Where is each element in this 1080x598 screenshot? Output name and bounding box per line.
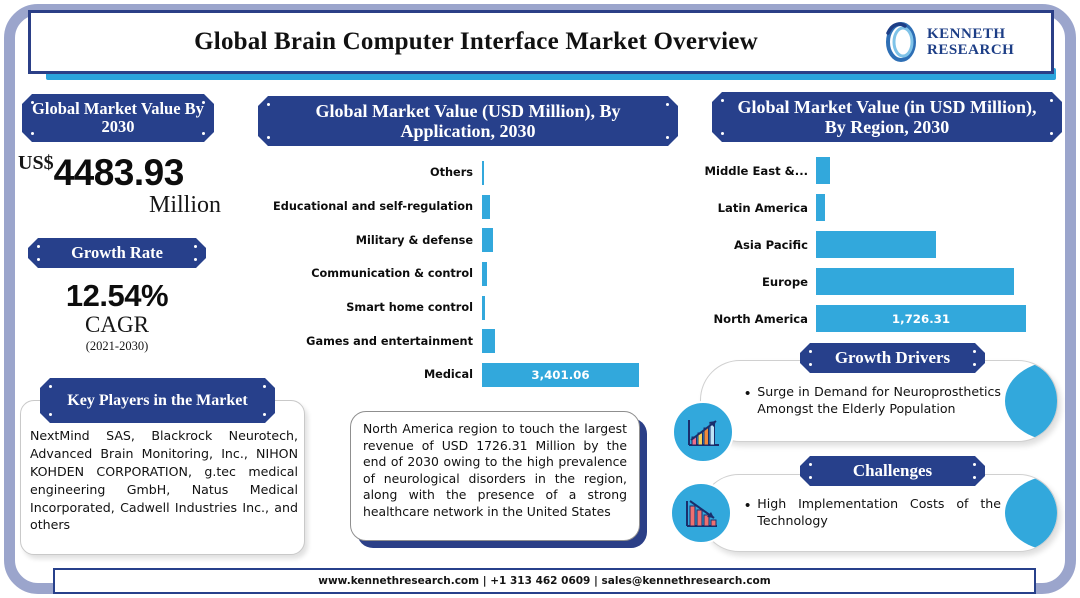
- key-players-banner: Key Players in the Market: [40, 378, 275, 423]
- ribbon-dot-icon: [973, 463, 976, 466]
- chart-bar-row: Europe: [700, 263, 1045, 300]
- chart-bar-track: 1,726.31: [816, 300, 1045, 337]
- ribbon-dot-icon: [973, 476, 976, 479]
- chart-category-label: Middle East &...: [700, 164, 816, 178]
- ribbon-dot-icon: [1050, 99, 1053, 102]
- growth-rate-banner: Growth Rate: [28, 238, 206, 268]
- ribbon-dot-icon: [37, 258, 40, 261]
- chart-category-label: Latin America: [700, 201, 816, 215]
- card-accent-shape: [1005, 361, 1057, 441]
- market-value-banner-label: Global Market Value By 2030: [22, 100, 214, 137]
- ribbon-dot-icon: [202, 132, 205, 135]
- ribbon-dot-icon: [49, 413, 52, 416]
- chart-bar-row: Military & defense: [262, 223, 662, 257]
- chart-bar-track: 3,401.06: [482, 358, 662, 392]
- application-bar-chart: OthersEducational and self-regulationMil…: [262, 156, 662, 392]
- kenneth-research-logo-icon: [881, 21, 921, 63]
- growth-rate-metric: CAGR: [22, 312, 212, 338]
- ribbon-dot-icon: [973, 350, 976, 353]
- application-chart-banner: Global Market Value (USD Million), By Ap…: [258, 96, 678, 146]
- ribbon-dot-icon: [202, 101, 205, 104]
- growth-drivers-banner-label: Growth Drivers: [835, 348, 950, 367]
- ribbon-dot-icon: [973, 363, 976, 366]
- ribbon-dot-icon: [194, 258, 197, 261]
- chart-category-label: Communication & control: [262, 267, 482, 280]
- chart-bar-track: [482, 223, 662, 257]
- growth-rate-banner-label: Growth Rate: [71, 244, 163, 262]
- market-value-currency: US$: [18, 152, 54, 174]
- ribbon-dot-icon: [809, 363, 812, 366]
- challenges-banner: Challenges: [800, 456, 985, 486]
- chart-bar-row: North America1,726.31: [700, 300, 1045, 337]
- ribbon-dot-icon: [37, 245, 40, 248]
- chart-category-label: Others: [262, 166, 482, 179]
- chart-bar-value-label: 3,401.06: [531, 368, 589, 382]
- ribbon-dot-icon: [49, 385, 52, 388]
- ribbon-dot-icon: [721, 132, 724, 135]
- chart-category-label: Medical: [262, 368, 482, 381]
- chart-bar-row: Educational and self-regulation: [262, 190, 662, 224]
- chart-bar-track: [816, 226, 1045, 263]
- growth-rate-period: (2021-2030): [22, 339, 212, 354]
- growth-rate-figure: 12.54% CAGR (2021-2030): [22, 278, 212, 354]
- rising-bar-chart-icon: [672, 401, 734, 463]
- chart-bar-row: Others: [262, 156, 662, 190]
- chart-bar: [816, 268, 1014, 295]
- challenges-body: • High Implementation Costs of the Techn…: [745, 475, 1001, 551]
- chart-bar: [482, 161, 484, 185]
- challenges-banner-label: Challenges: [853, 461, 932, 480]
- list-item: • High Implementation Costs of the Techn…: [745, 496, 1001, 530]
- footer-bar: www.kennethresearch.com | +1 313 462 060…: [53, 568, 1036, 594]
- chart-bar-track: [482, 324, 662, 358]
- ribbon-dot-icon: [1050, 132, 1053, 135]
- chart-category-label: Europe: [700, 275, 816, 289]
- ribbon-dot-icon: [31, 101, 34, 104]
- chart-bar: 3,401.06: [482, 363, 639, 387]
- market-value-banner: Global Market Value By 2030: [22, 94, 214, 142]
- growth-drivers-body: • Surge in Demand for Neuroprosthetics A…: [745, 361, 1001, 441]
- chart-bar-row: Smart home control: [262, 291, 662, 325]
- list-item: • Surge in Demand for Neuroprosthetics A…: [745, 384, 1001, 418]
- chart-bar: 1,726.31: [816, 305, 1026, 332]
- card-accent-shape: [1005, 475, 1057, 551]
- market-value-figure: US$4483.93 Million: [18, 152, 233, 219]
- ribbon-dot-icon: [194, 245, 197, 248]
- chart-category-label: Asia Pacific: [700, 238, 816, 252]
- ribbon-dot-icon: [31, 132, 34, 135]
- ribbon-dot-icon: [263, 385, 266, 388]
- growth-rate-number: 12.54%: [22, 278, 212, 314]
- chart-bar-row: Latin America: [700, 189, 1045, 226]
- key-players-text: NextMind SAS, Blackrock Neurotech, Advan…: [30, 427, 298, 534]
- ribbon-dot-icon: [721, 99, 724, 102]
- chart-bar-track: [482, 291, 662, 325]
- chart-bar-track: [482, 156, 662, 190]
- chart-bar-row: Communication & control: [262, 257, 662, 291]
- header: Global Brain Computer Interface Market O…: [28, 6, 1058, 84]
- header-box: Global Brain Computer Interface Market O…: [28, 10, 1054, 74]
- ribbon-dot-icon: [263, 413, 266, 416]
- challenge-text: High Implementation Costs of the Technol…: [757, 496, 1001, 530]
- chart-bar-value-label: 1,726.31: [892, 312, 950, 326]
- chart-bar: [482, 195, 490, 219]
- chart-category-label: North America: [700, 312, 816, 326]
- logo-line-2: RESEARCH: [927, 42, 1014, 58]
- application-chart-title: Global Market Value (USD Million), By Ap…: [274, 101, 662, 141]
- ribbon-dot-icon: [666, 103, 669, 106]
- ribbon-dot-icon: [267, 103, 270, 106]
- ribbon-dot-icon: [809, 463, 812, 466]
- chart-bar-row: Games and entertainment: [262, 324, 662, 358]
- chart-bar: [482, 228, 493, 252]
- ribbon-dot-icon: [809, 476, 812, 479]
- chart-bar-track: [482, 190, 662, 224]
- growth-driver-text: Surge in Demand for Neuroprosthetics Amo…: [757, 384, 1001, 418]
- chart-bar-track: [816, 152, 1045, 189]
- logo-wordmark: KENNETH RESEARCH: [927, 26, 1014, 58]
- chart-bar-row: Middle East &...: [700, 152, 1045, 189]
- region-bar-chart: Middle East &...Latin AmericaAsia Pacifi…: [700, 152, 1045, 337]
- infographic-page: Global Brain Computer Interface Market O…: [0, 0, 1080, 598]
- chart-category-label: Smart home control: [262, 301, 482, 314]
- chart-bar-track: [816, 189, 1045, 226]
- bullet-point-icon: •: [745, 384, 750, 404]
- bullet-point-icon: •: [745, 496, 750, 516]
- chart-bar-row: Medical3,401.06: [262, 358, 662, 392]
- chart-bar: [482, 296, 485, 320]
- ribbon-dot-icon: [267, 136, 270, 139]
- region-chart-banner: Global Market Value (in USD Million), By…: [712, 92, 1062, 142]
- chart-bar-track: [482, 257, 662, 291]
- growth-drivers-banner: Growth Drivers: [800, 343, 985, 373]
- chart-bar: [816, 157, 830, 184]
- ribbon-dot-icon: [809, 350, 812, 353]
- region-chart-title: Global Market Value (in USD Million), By…: [730, 97, 1044, 137]
- key-players-banner-label: Key Players in the Market: [67, 392, 247, 410]
- chart-category-label: Military & defense: [262, 234, 482, 247]
- brand-logo: KENNETH RESEARCH: [881, 21, 1051, 63]
- chart-bar: [482, 329, 495, 353]
- chart-bar-track: [816, 263, 1045, 300]
- north-america-callout: North America region to touch the larges…: [350, 411, 640, 541]
- market-value-unit: Million: [18, 192, 233, 219]
- chart-category-label: Educational and self-regulation: [262, 200, 482, 213]
- chart-category-label: Games and entertainment: [262, 335, 482, 348]
- footer-contact-text: www.kennethresearch.com | +1 313 462 060…: [318, 575, 770, 587]
- chart-bar: [482, 262, 487, 286]
- chart-bar: [816, 194, 825, 221]
- market-value-number: 4483.93: [54, 152, 184, 193]
- page-title: Global Brain Computer Interface Market O…: [31, 28, 881, 56]
- logo-line-1: KENNETH: [927, 26, 1006, 42]
- falling-bar-chart-icon: [670, 482, 732, 544]
- chart-bar: [816, 231, 936, 258]
- ribbon-dot-icon: [666, 136, 669, 139]
- chart-bar-row: Asia Pacific: [700, 226, 1045, 263]
